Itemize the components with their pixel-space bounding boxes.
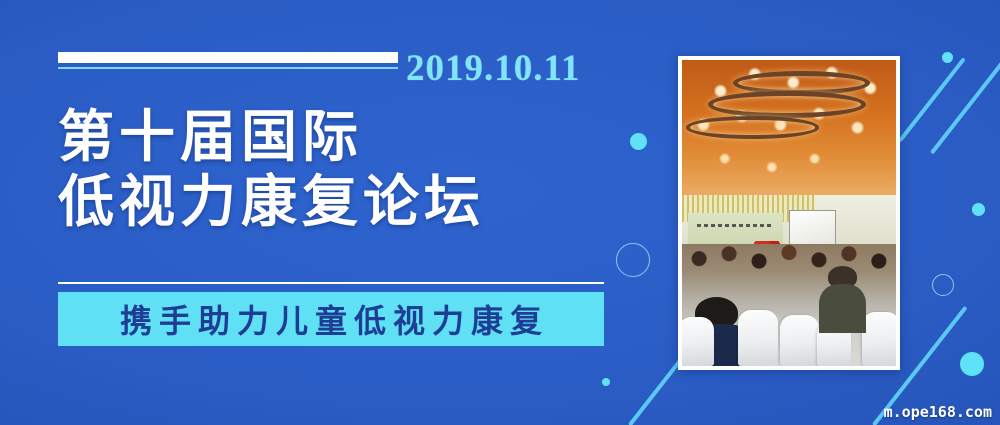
ring-outline-right-icon <box>932 274 954 296</box>
slash-top-inner-icon <box>898 57 966 142</box>
event-photo <box>682 60 896 366</box>
slash-top-outer-icon <box>930 51 1000 154</box>
audience-body-2 <box>819 284 866 333</box>
dot-small-cyan-topright-icon <box>942 52 953 63</box>
dot-large-cyan-bottomright-icon <box>960 352 984 376</box>
chair-2 <box>738 310 779 366</box>
event-date: 2019.10.11 <box>406 47 580 90</box>
page-title: 第十届国际 低视力康复论坛 <box>58 106 618 236</box>
title-line-2: 低视力康复论坛 <box>58 171 618 236</box>
top-rule-thin <box>58 67 398 69</box>
photo-ceiling <box>682 60 896 201</box>
title-line-1: 第十届国际 <box>58 106 618 171</box>
chair-3 <box>780 315 819 366</box>
dot-cyan-right-icon <box>972 203 985 216</box>
subtitle-text: 携手助力儿童低视力康复 <box>113 296 549 342</box>
subtitle-banner: 携手助力儿童低视力康复 <box>58 292 604 346</box>
site-watermark: m.ope168.com <box>884 403 992 421</box>
conference-poster: 2019.10.11 第十届国际 低视力康复论坛 携手助力儿童低视力康复 <box>0 0 1000 425</box>
top-rule-thick <box>58 52 398 63</box>
event-photo-frame <box>678 56 900 370</box>
chandelier-ring-2-icon <box>708 91 866 118</box>
poster-text-column: 2019.10.11 第十届国际 低视力康复论坛 携手助力儿童低视力康复 <box>58 0 658 425</box>
top-rule-group <box>58 52 398 69</box>
chandelier-ring-3-icon <box>686 116 819 139</box>
photo-backdrop-caption <box>697 224 774 227</box>
photo-audience <box>682 244 896 366</box>
chair-1 <box>682 317 714 366</box>
subtitle-top-rule <box>58 282 604 284</box>
chair-5 <box>862 312 896 366</box>
